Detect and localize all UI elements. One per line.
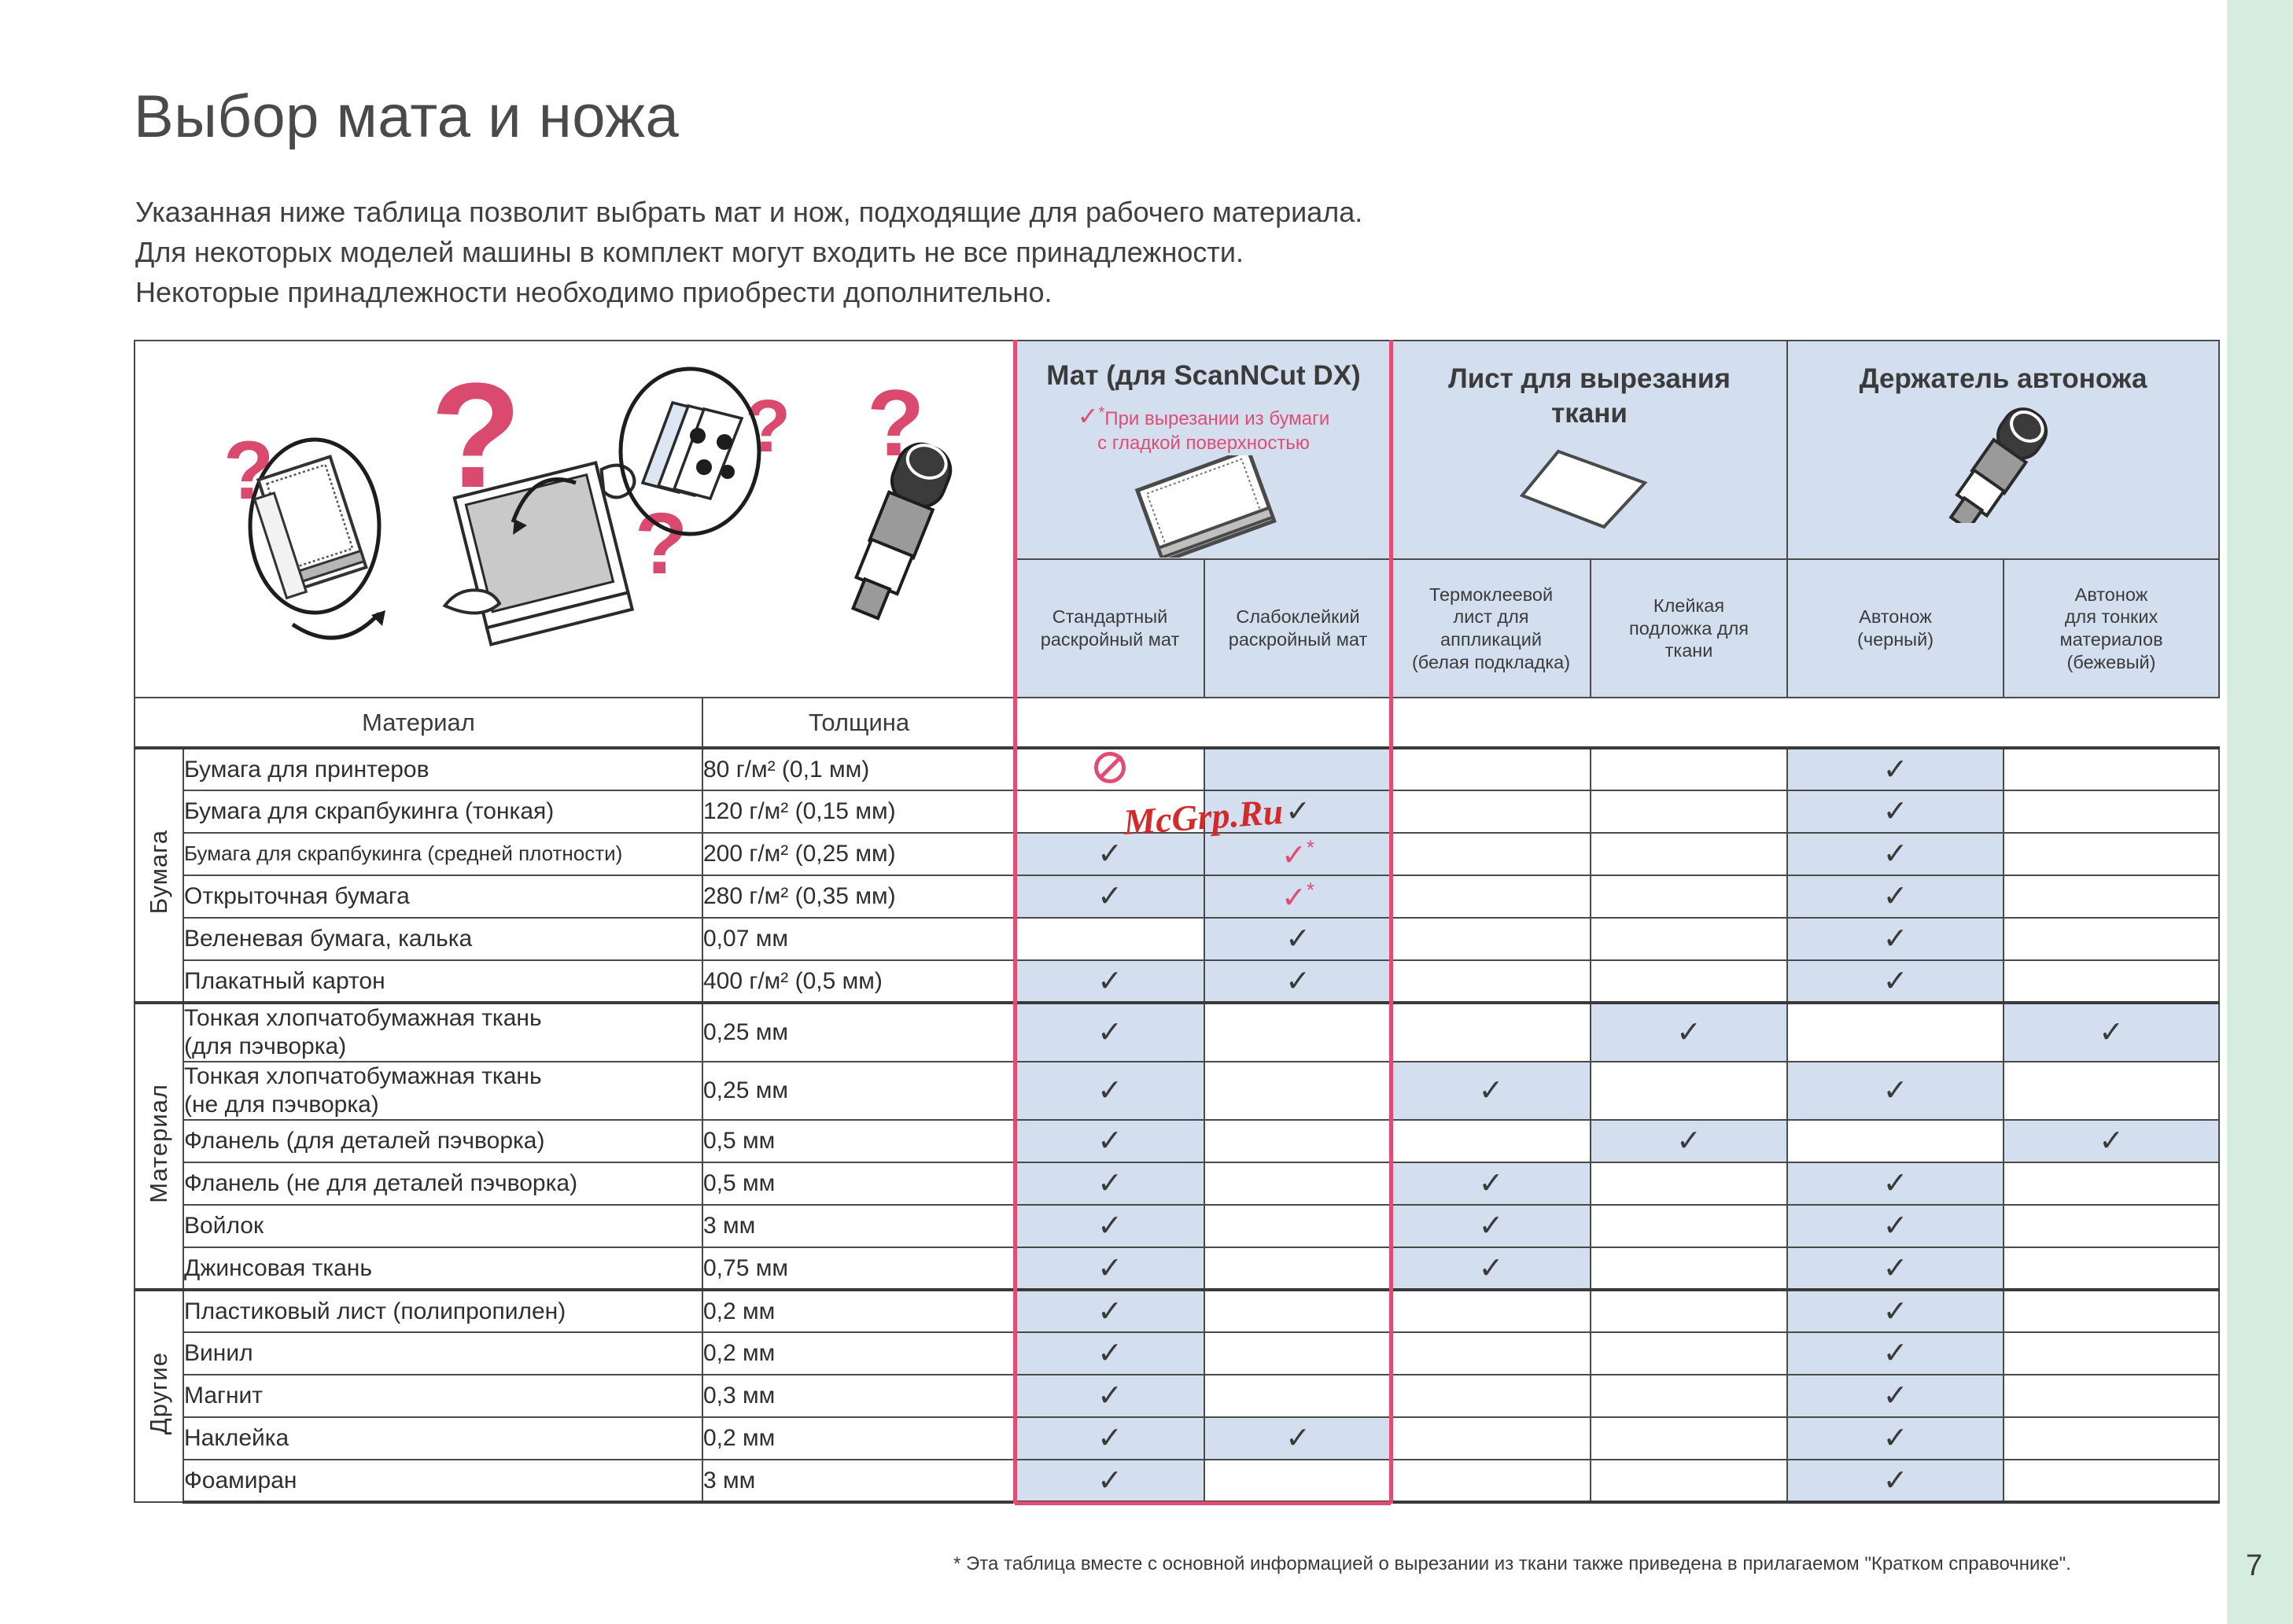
support-cell-col-3: ✓ [1392,1162,1591,1205]
cutting-mat-icon [249,457,367,598]
support-cell-col-3 [1392,1120,1591,1162]
support-cell-col-4 [1591,1162,1787,1205]
thickness-cell: 0,3 мм [702,1375,1016,1417]
material-name-cell: Наклейка [183,1417,702,1460]
support-cell-col-5: ✓ [1787,1332,2004,1375]
support-cell-col-3 [1392,875,1591,918]
row-group-label-text: Бумага [145,830,173,914]
table-row: Бумага для скрапбукинга (средней плотнос… [135,833,2219,875]
thickness-cell: 0,25 мм [702,1003,1016,1062]
fabric-sheet-icon [1392,431,1786,549]
support-cell-col-2 [1204,1205,1392,1247]
material-name-cell: Войлок [183,1205,702,1247]
support-cell-col-3 [1392,918,1591,960]
arrow-curve-icon [293,613,379,638]
paper-stack-icon [643,403,742,499]
document-page: Выбор мата и ножа Указанная ниже таблица… [0,0,2293,1624]
support-cell-col-1: ✓ [1016,1290,1204,1332]
table-row: Плакатный картон400 г/м² (0,5 мм)✓✓✓ [135,960,2219,1003]
support-cell-col-4 [1591,790,1787,833]
support-cell-col-1 [1016,918,1204,960]
check-icon: ✓ [1883,922,1908,956]
support-cell-col-2 [1204,1003,1392,1062]
support-cell-col-5: ✓ [1787,1162,2004,1205]
thickness-cell: 0,2 мм [702,1290,1016,1332]
support-cell-col-6 [2004,790,2219,833]
check-icon: ✓ [1883,1210,1908,1243]
support-cell-col-4: ✓ [1591,1003,1787,1062]
subheader-low-tack-mat: Слабоклейкийраскройный мат [1204,559,1392,698]
support-cell-col-1: ✓ [1016,1062,1204,1120]
support-cell-col-2: ✓ [1204,790,1392,833]
support-cell-col-6 [2004,1062,2219,1120]
material-name-cell: Тонкая хлопчатобумажная ткань(не для пэч… [183,1062,702,1120]
support-cell-col-4 [1591,875,1787,918]
blade-holder-icon [841,437,957,624]
support-cell-col-4 [1591,1460,1787,1502]
material-line: Тонкая хлопчатобумажная ткань [184,1063,542,1089]
not-supported-icon [1094,752,1126,783]
question-mark-icon: ? [745,385,791,468]
table-header-band: ? ? ? ? ? [135,341,2219,559]
check-icon: ✓ [1285,922,1311,956]
support-cell-col-2: ✓* [1204,875,1392,918]
cutting-mat-icon [1016,455,1391,558]
check-icon: ✓ [1883,753,1908,786]
support-cell-col-5: ✓ [1787,1205,2004,1247]
check-icon: ✓ [1479,1210,1504,1243]
column-header-material: Материал [135,698,702,748]
support-cell-col-5: ✓ [1787,1290,2004,1332]
support-cell-col-5: ✓ [1787,1247,2004,1290]
support-cell-col-4 [1591,1290,1787,1332]
mat-and-blade-question-illustration: ? ? ? ? ? [135,341,1015,672]
page-title: Выбор мата и ножа [134,83,679,151]
support-cell-col-3 [1392,1332,1591,1375]
mat-and-blade-selection-table: ? ? ? ? ? [134,340,2220,1504]
check-icon: ✓ [1097,965,1123,998]
thickness-cell: 3 мм [702,1205,1016,1247]
support-cell-col-2: ✓ [1204,1417,1392,1460]
check-icon: ✓ [1097,1252,1123,1285]
support-cell-col-1: ✓ [1016,1375,1204,1417]
page-edge-strip [2227,0,2293,1624]
material-name-cell: Фланель (для деталей пэчворка) [183,1120,702,1162]
table-row: Фоамиран3 мм✓✓ [135,1460,2219,1502]
support-cell-col-3 [1392,833,1591,875]
group-header-fabric-sheet: Лист для вырезания ткани [1392,341,1787,559]
material-name-cell: Бумага для скрапбукинга (средней плотнос… [183,833,702,875]
subheader-fabric-backing: Клейкаяподложка дляткани [1591,559,1787,698]
check-icon: ✓ [1097,1074,1123,1107]
table-row: Веленевая бумага, калька0,07 мм✓✓ [135,918,2219,960]
section-divider-line [1013,340,1017,1504]
check-icon: ✓ [1883,1074,1908,1107]
support-cell-col-6 [2004,918,2219,960]
support-cell-col-1: ✓ [1016,960,1204,1003]
support-cell-col-3 [1392,1290,1591,1332]
support-cell-col-2 [1204,1375,1392,1417]
column-header-spacer [1016,698,2219,748]
table-row: Магнит0,3 мм✓✓ [135,1375,2219,1417]
support-cell-col-1: ✓ [1016,875,1204,918]
asterisk-marker: * [1307,878,1314,902]
check-icon: ✓ [1097,1016,1123,1049]
check-icon: ✓ [1883,965,1908,998]
check-icon: ✓ [1883,1379,1908,1412]
support-cell-col-3 [1392,1417,1591,1460]
check-icon: ✓ [1097,1379,1123,1412]
support-cell-col-3: ✓ [1392,1205,1591,1247]
check-icon: ✓ [1078,402,1099,430]
check-icon: ✓ [1883,1422,1908,1455]
support-cell-col-1: ✓ [1016,1417,1204,1460]
group-header-blade-holder: Держатель автоножа [1787,341,2219,559]
support-cell-col-2 [1204,1460,1392,1502]
support-cell-col-5: ✓ [1787,875,2004,918]
thickness-cell: 0,5 мм [702,1162,1016,1205]
support-cell-col-4: ✓ [1591,1120,1787,1162]
check-icon: ✓ [2099,1016,2124,1049]
support-cell-col-4 [1591,1205,1787,1247]
material-line: Бумага для принтеров [184,757,429,783]
table-row: Наклейка0,2 мм✓✓✓ [135,1417,2219,1460]
row-group-label-1: Бумага [135,748,183,1003]
support-cell-col-6 [2004,1375,2219,1417]
support-cell-col-2: ✓* [1204,833,1392,875]
table-row: Открыточная бумага280 г/м² (0,35 мм)✓✓*✓ [135,875,2219,918]
check-icon: ✓ [1097,1464,1123,1497]
support-cell-col-5: ✓ [1787,1460,2004,1502]
check-icon: ✓ [1097,880,1123,913]
material-line: Бумага для скрапбукинга (средней плотнос… [184,841,622,865]
group-header-mat: Мат (для ScanNCut DX) ✓*При вырезании из… [1016,341,1392,559]
support-cell-col-6 [2004,1332,2219,1375]
support-cell-col-2 [1204,1162,1392,1205]
asterisk-marker: * [1307,836,1314,860]
group-header-mat-note: ✓*При вырезании из бумаги с гладкой пове… [1016,401,1391,455]
group-header-blade-holder-label: Держатель автоножа [1788,362,2218,396]
support-cell-col-6 [2004,875,2219,918]
thickness-cell: 400 г/м² (0,5 мм) [702,960,1016,1003]
support-cell-col-3 [1392,1460,1591,1502]
support-cell-col-4 [1591,918,1787,960]
material-line: Пластиковый лист (полипропилен) [184,1298,566,1324]
support-cell-col-4 [1591,1417,1787,1460]
support-cell-col-5: ✓ [1787,833,2004,875]
table-row: Джинсовая ткань0,75 мм✓✓✓ [135,1247,2219,1290]
material-name-cell: Фланель (не для деталей пэчворка) [183,1162,702,1205]
intro-line-2: Для некоторых моделей машины в комплект … [135,232,1362,272]
support-cell-col-5: ✓ [1787,748,2004,790]
material-line: Плакатный картон [184,968,385,994]
material-name-cell: Пластиковый лист (полипропилен) [183,1290,702,1332]
support-cell-col-5: ✓ [1787,1062,2004,1120]
section-divider-line [1389,340,1393,1504]
thickness-cell: 0,75 мм [702,1247,1016,1290]
check-icon: ✓ [1883,1295,1908,1328]
group-header-mat-label: Мат (для ScanNCut DX) [1016,359,1391,393]
illustration-cell: ? ? ? ? ? [135,341,1016,698]
subheader-standard-mat: Стандартныйраскройный мат [1016,559,1204,698]
support-cell-col-6 [2004,833,2219,875]
support-cell-col-2 [1204,1120,1392,1162]
subheader-auto-blade-thin: Автонождля тонкихматериалов(бежевый) [2004,559,2219,698]
support-cell-col-3 [1392,748,1591,790]
table-row: МатериалТонкая хлопчатобумажная ткань(дл… [135,1003,2219,1062]
subheader-iron-on-sheet: Термоклеевойлист дляаппликаций(белая под… [1392,559,1591,698]
support-cell-col-6: ✓ [2004,1003,2219,1062]
check-icon: ✓ [1097,1125,1123,1158]
material-name-cell: Винил [183,1332,702,1375]
table-column-header-row: Материал Толщина [135,698,2219,748]
support-cell-col-4 [1591,1247,1787,1290]
material-line: Фланель (не для деталей пэчворка) [184,1170,577,1196]
thickness-cell: 0,5 мм [702,1120,1016,1162]
support-cell-col-2 [1204,1062,1392,1120]
material-line: Фланель (для деталей пэчворка) [184,1128,544,1154]
illustration-svg: ? ? ? ? ? [135,341,1015,672]
check-icon: ✓ [1479,1167,1504,1200]
support-cell-col-5 [1787,1003,2004,1062]
intro-line-1: Указанная ниже таблица позволит выбрать … [135,192,1362,232]
subheader-auto-blade-black: Автонож(черный) [1787,559,2004,698]
check-icon: ✓ [1097,1210,1123,1243]
support-cell-col-6 [2004,1205,2219,1247]
check-icon: ✓ [1285,795,1311,828]
table-row: Фланель (не для деталей пэчворка)0,5 мм✓… [135,1162,2219,1205]
support-cell-col-3: ✓ [1392,1062,1591,1120]
footnote: * Эта таблица вместе с основной информац… [953,1553,2071,1575]
check-icon: ✓ [1097,1422,1123,1455]
support-cell-col-4 [1591,1375,1787,1417]
support-cell-col-1: ✓ [1016,1247,1204,1290]
support-cell-col-1 [1016,748,1204,790]
check-icon: ✓ [1883,880,1908,913]
support-cell-col-6: ✓ [2004,1120,2219,1162]
table-row: Тонкая хлопчатобумажная ткань(не для пэч… [135,1062,2219,1120]
check-icon-footnoted: ✓* [1281,882,1314,915]
material-line: (для пэчворка) [184,1033,346,1059]
support-cell-col-5: ✓ [1787,960,2004,1003]
support-cell-col-1: ✓ [1016,833,1204,875]
support-cell-col-6 [2004,748,2219,790]
support-cell-col-6 [2004,1162,2219,1205]
thickness-cell: 0,25 мм [702,1062,1016,1120]
support-cell-col-6 [2004,1290,2219,1332]
section-divider-line [1015,1501,1391,1505]
check-icon: ✓ [1285,1422,1311,1455]
support-cell-col-4 [1591,1062,1787,1120]
material-name-cell: Бумага для принтеров [183,748,702,790]
intro-paragraph: Указанная ниже таблица позволит выбрать … [135,192,1362,312]
support-cell-col-4 [1591,1332,1787,1375]
support-cell-col-3: ✓ [1392,1247,1591,1290]
intro-line-3: Некоторые принадлежности необходимо прио… [135,272,1362,312]
support-cell-col-3 [1392,960,1591,1003]
note-line-1: При вырезании из бумаги [1104,408,1329,429]
check-icon: ✓ [1285,965,1311,998]
check-icon: ✓ [1883,795,1908,828]
material-name-cell: Плакатный картон [183,960,702,1003]
support-cell-col-2 [1204,748,1392,790]
material-name-cell: Фоамиран [183,1460,702,1502]
thickness-cell: 0,2 мм [702,1417,1016,1460]
support-cell-col-1: ✓ [1016,1332,1204,1375]
row-group-label-text: Материал [145,1084,173,1203]
support-cell-col-5: ✓ [1787,1375,2004,1417]
support-cell-col-1: ✓ [1016,1460,1204,1502]
check-icon: ✓ [1097,1167,1123,1200]
material-line: Винил [184,1340,253,1366]
support-cell-col-2: ✓ [1204,960,1392,1003]
support-cell-col-2 [1204,1290,1392,1332]
check-icon: ✓ [1883,1464,1908,1497]
table-row: Фланель (для деталей пэчворка)0,5 мм✓✓✓ [135,1120,2219,1162]
material-name-cell: Тонкая хлопчатобумажная ткань(для пэчвор… [183,1003,702,1062]
support-cell-col-2 [1204,1247,1392,1290]
check-icon: ✓ [1097,838,1123,871]
thickness-cell: 3 мм [702,1460,1016,1502]
material-line: Тонкая хлопчатобумажная ткань [184,1005,542,1031]
thickness-cell: 120 г/м² (0,15 мм) [702,790,1016,833]
support-cell-col-5: ✓ [1787,1417,2004,1460]
support-cell-col-1 [1016,790,1204,833]
row-group-label-text: Другие [145,1352,173,1434]
support-cell-col-6 [2004,1247,2219,1290]
check-icon: ✓ [1479,1074,1504,1107]
table-row: Винил0,2 мм✓✓ [135,1332,2219,1375]
material-name-cell: Бумага для скрапбукинга (тонкая) [183,790,702,833]
row-group-label-3: Другие [135,1290,183,1502]
table-row: ДругиеПластиковый лист (полипропилен)0,2… [135,1290,2219,1332]
check-icon: ✓ [1676,1125,1701,1158]
table-row: Войлок3 мм✓✓✓ [135,1205,2219,1247]
group-header-fabric-sheet-label: Лист для вырезания ткани [1392,362,1786,431]
thickness-cell: 0,07 мм [702,918,1016,960]
check-icon: ✓ [1676,1016,1701,1049]
material-name-cell: Веленевая бумага, калька [183,918,702,960]
material-line: Открыточная бумага [184,883,410,909]
support-cell-col-1: ✓ [1016,1120,1204,1162]
page-number: 7 [2246,1549,2262,1583]
material-name-cell: Джинсовая ткань [183,1247,702,1290]
material-name-cell: Открыточная бумага [183,875,702,918]
table-row: БумагаБумага для принтеров80 г/м² (0,1 м… [135,748,2219,790]
support-cell-col-4 [1591,748,1787,790]
thickness-cell: 0,2 мм [702,1332,1016,1375]
material-line: Наклейка [184,1425,289,1451]
thickness-cell: 200 г/м² (0,25 мм) [702,833,1016,875]
check-icon: ✓ [1097,1295,1123,1328]
support-cell-col-1: ✓ [1016,1162,1204,1205]
auto-blade-holder-icon [1788,396,2218,524]
thickness-cell: 80 г/м² (0,1 мм) [702,748,1016,790]
material-line: Фоамиран [184,1467,297,1493]
material-line: (не для пэчворка) [184,1092,379,1118]
check-icon-footnoted: ✓* [1281,839,1314,872]
support-cell-col-1: ✓ [1016,1205,1204,1247]
thickness-cell: 280 г/м² (0,35 мм) [702,875,1016,918]
material-line: Войлок [184,1213,264,1239]
support-cell-col-4 [1591,960,1787,1003]
support-cell-col-3 [1392,1375,1591,1417]
material-name-cell: Магнит [183,1375,702,1417]
row-group-label-2: Материал [135,1003,183,1290]
table-row: Бумага для скрапбукинга (тонкая)120 г/м²… [135,790,2219,833]
support-cell-col-6 [2004,960,2219,1003]
check-icon: ✓ [1883,1337,1908,1370]
check-icon: ✓ [1883,1252,1908,1285]
support-cell-col-1: ✓ [1016,1003,1204,1062]
support-cell-col-3 [1392,790,1591,833]
material-line: Магнит [184,1383,263,1409]
support-cell-col-2 [1204,1332,1392,1375]
support-cell-col-2: ✓ [1204,918,1392,960]
check-icon: ✓ [1097,1337,1123,1370]
support-cell-col-5: ✓ [1787,918,2004,960]
material-line: Джинсовая ткань [184,1255,372,1281]
support-cell-col-6 [2004,1417,2219,1460]
material-line: Веленевая бумага, калька [184,926,472,952]
check-icon: ✓ [1883,1167,1908,1200]
material-line: Бумага для скрапбукинга (тонкая) [184,798,554,824]
column-header-thickness: Толщина [702,698,1016,748]
note-line-2: с гладкой поверхностью [1097,433,1310,454]
check-icon: ✓ [1479,1252,1504,1285]
support-cell-col-6 [2004,1460,2219,1502]
check-icon: ✓ [1883,838,1908,871]
support-cell-col-5 [1787,1120,2004,1162]
support-cell-col-5: ✓ [1787,790,2004,833]
support-cell-col-3 [1392,1003,1591,1062]
check-icon: ✓ [2099,1125,2124,1158]
support-cell-col-4 [1591,833,1787,875]
